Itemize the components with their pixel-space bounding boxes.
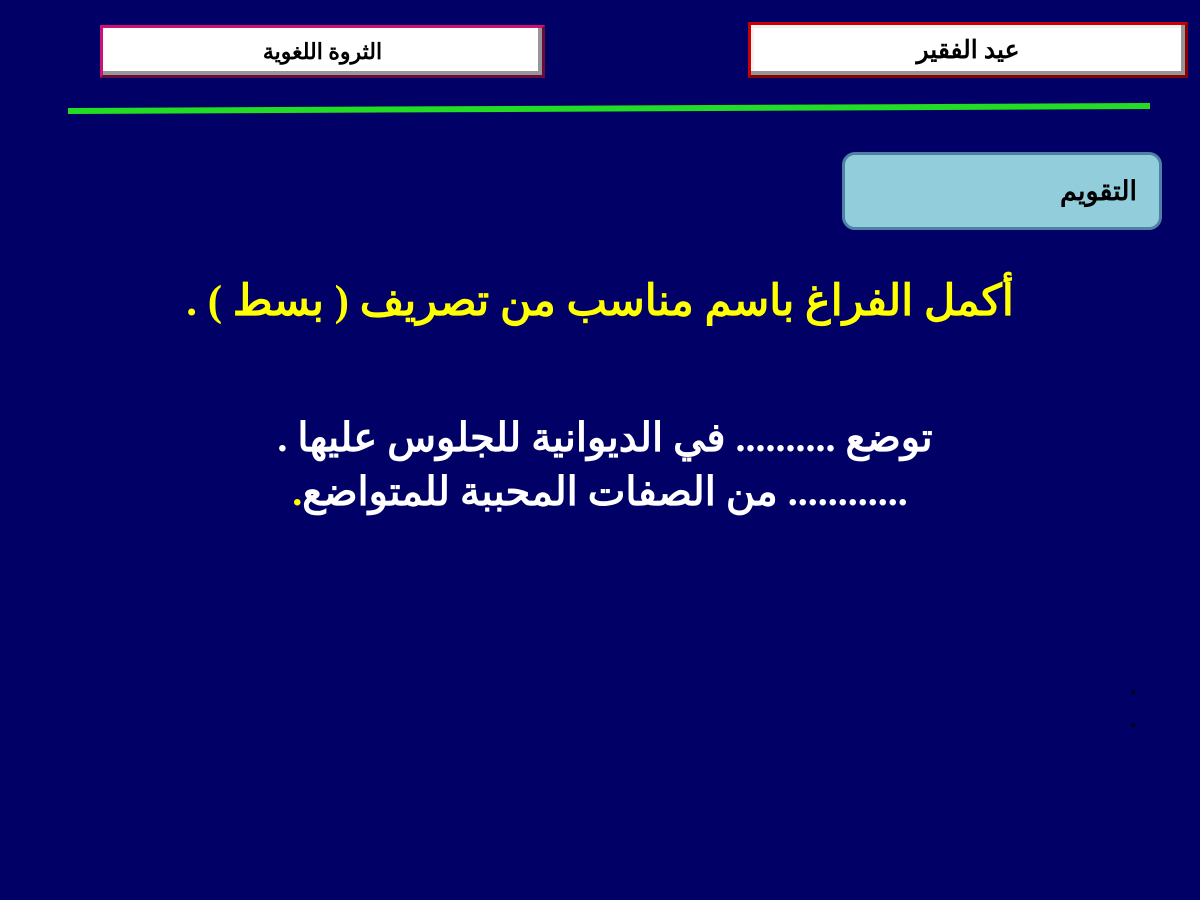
slide-canvas: عيد الفقير الثروة اللغوية التقويم أكمل ا… xyxy=(0,0,1200,900)
slide-body: أكمل الفراغ باسم مناسب من تصريف ( بسط ) … xyxy=(0,275,1200,519)
evaluation-label-box[interactable]: التقويم xyxy=(842,152,1162,230)
exercise-prompt: أكمل الفراغ باسم مناسب من تصريف ( بسط ) … xyxy=(0,275,1200,329)
question-line-2-period: . xyxy=(292,469,302,514)
stray-dot-lower xyxy=(1131,723,1135,727)
stray-dot-upper xyxy=(1131,690,1135,694)
question-line-2: ............ من الصفات المحببة للمتواضع. xyxy=(40,465,1160,519)
green-divider-line xyxy=(68,103,1150,114)
main-title-plate[interactable]: عيد الفقير xyxy=(748,22,1188,78)
evaluation-label: التقويم xyxy=(1060,178,1137,205)
question-line-1: توضع .......... في الديوانية للجلوس عليه… xyxy=(40,411,1160,465)
question-list: توضع .......... في الديوانية للجلوس عليه… xyxy=(0,411,1200,519)
section-title-label: الثروة اللغوية xyxy=(263,41,382,63)
section-title-plate[interactable]: الثروة اللغوية xyxy=(100,25,545,78)
question-line-2-text: ............ من الصفات المحببة للمتواضع xyxy=(302,469,907,514)
main-title-label: عيد الفقير xyxy=(916,38,1019,63)
